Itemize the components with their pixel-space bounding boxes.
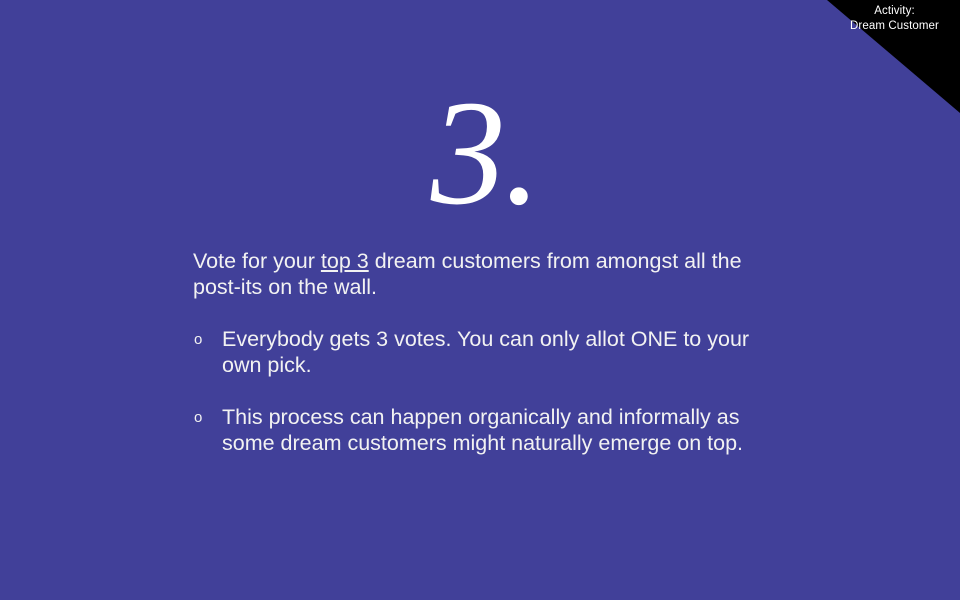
activity-label-line1: Activity: (832, 4, 957, 19)
list-item-text: Everybody gets 3 votes. You can only all… (222, 327, 753, 378)
slide-canvas: Activity: Dream Customer 3. Vote for you… (0, 0, 960, 600)
bullet-circle-icon: o (194, 327, 202, 353)
intro-paragraph: Vote for your top 3 dream customers from… (193, 249, 753, 300)
activity-label: Activity: Dream Customer (832, 4, 957, 34)
activity-label-line2: Dream Customer (832, 19, 957, 34)
instruction-bullet-list: o Everybody gets 3 votes. You can only a… (193, 327, 753, 456)
list-item-text: This process can happen organically and … (222, 405, 753, 456)
list-item: o This process can happen organically an… (193, 405, 753, 456)
list-item: o Everybody gets 3 votes. You can only a… (193, 327, 753, 378)
body-content: Vote for your top 3 dream customers from… (193, 249, 753, 456)
intro-emphasis-top3: top 3 (321, 249, 369, 273)
bullet-circle-icon: o (194, 405, 202, 431)
step-number: 3. (0, 78, 960, 228)
intro-text-before: Vote for your (193, 249, 321, 273)
